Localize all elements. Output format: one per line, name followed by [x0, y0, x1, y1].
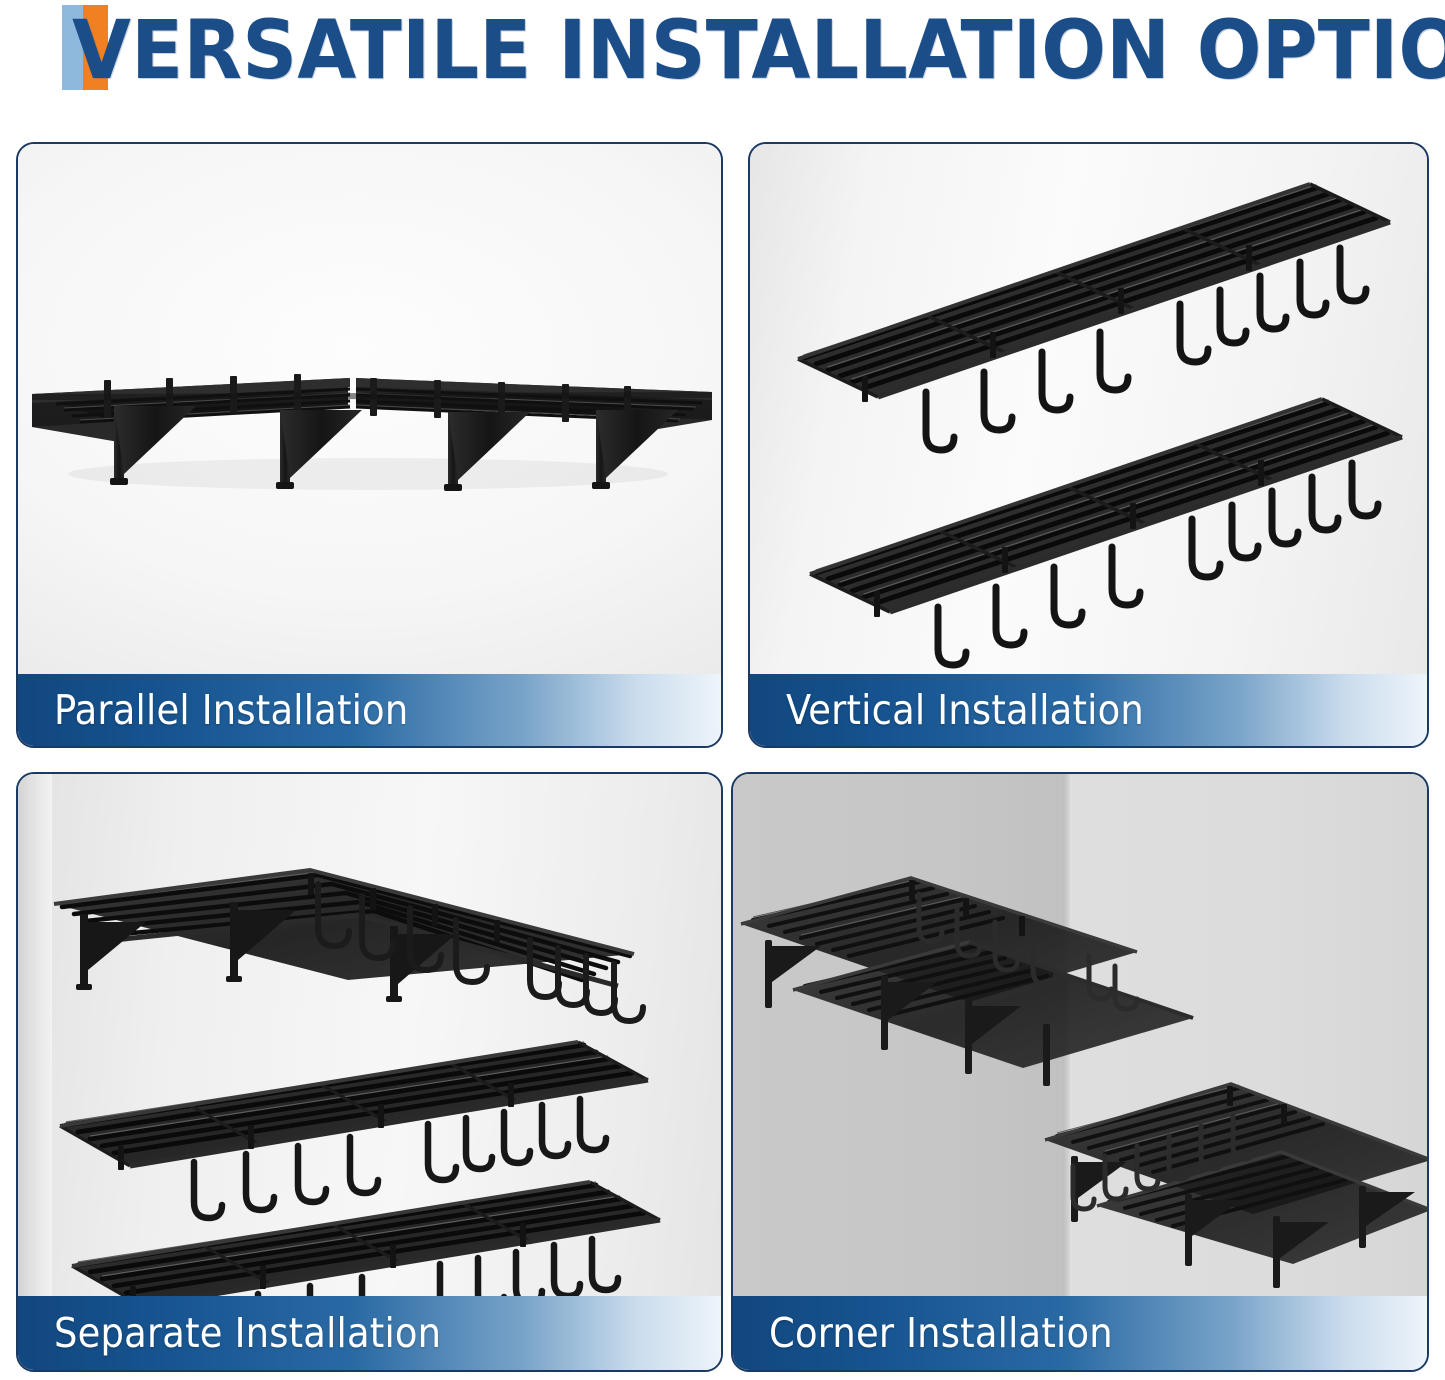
panel-label-text: Vertical Installation: [750, 686, 1144, 734]
installation-options-grid: Parallel Installation: [0, 0, 1445, 1380]
vertical-installation-photo: [750, 144, 1427, 746]
vertical-shelves-illustration: [750, 144, 1427, 746]
panel-label-corner: Corner Installation: [733, 1296, 1427, 1370]
panel-label-text: Separate Installation: [18, 1309, 441, 1357]
panel-label-text: Parallel Installation: [18, 686, 408, 734]
separate-shelves-illustration: [18, 774, 721, 1370]
panel-label-text: Corner Installation: [733, 1309, 1113, 1357]
panel-label-separate: Separate Installation: [18, 1296, 721, 1370]
panel-label-vertical: Vertical Installation: [750, 674, 1427, 746]
parallel-shelves-illustration: [18, 144, 721, 746]
panel-parallel-installation[interactable]: Parallel Installation: [16, 142, 723, 748]
separate-installation-photo: [18, 774, 721, 1370]
panel-vertical-installation[interactable]: Vertical Installation: [748, 142, 1429, 748]
panel-corner-installation[interactable]: Corner Installation: [731, 772, 1429, 1372]
parallel-installation-photo: [18, 144, 721, 746]
corner-installation-photo: [733, 774, 1427, 1370]
panel-label-parallel: Parallel Installation: [18, 674, 721, 746]
corner-shelves-illustration: [733, 774, 1427, 1370]
panel-separate-installation[interactable]: Separate Installation: [16, 772, 723, 1372]
